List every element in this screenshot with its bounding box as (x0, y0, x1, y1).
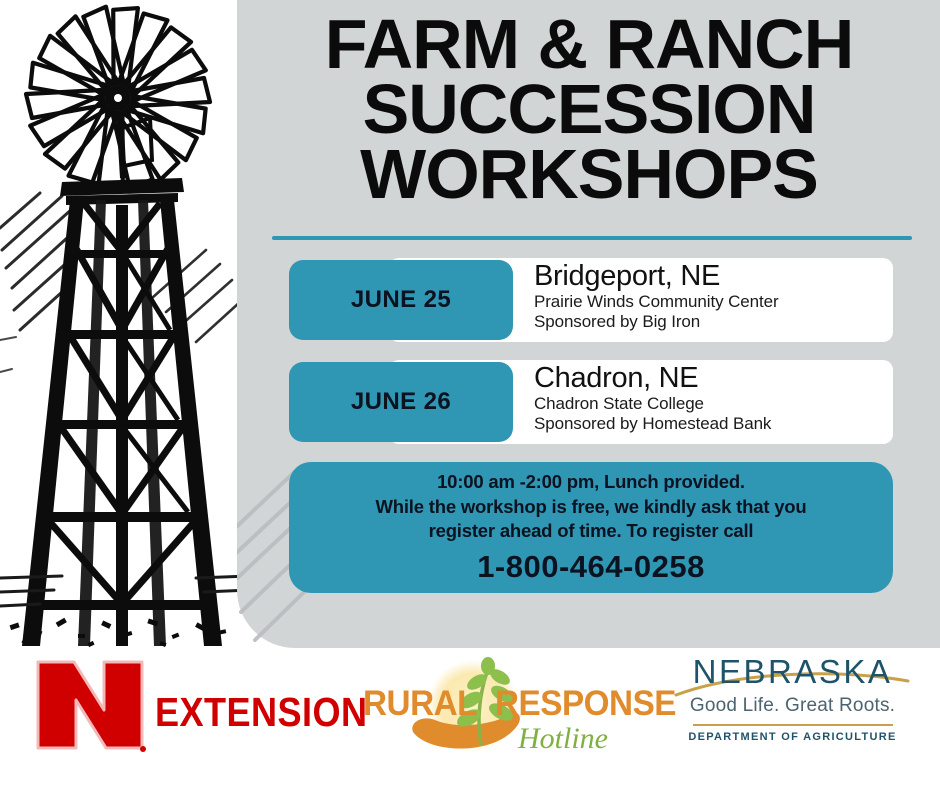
nda-divider (693, 724, 893, 726)
event-date-badge: JUNE 26 (289, 362, 513, 442)
registration-line-1: 10:00 am -2:00 pm, Lunch provided. (437, 470, 745, 495)
event-venue: Prairie Winds Community Center (534, 292, 884, 312)
event-sponsor: Sponsored by Homestead Bank (534, 414, 884, 434)
extension-wordmark: EXTENSION (155, 689, 367, 736)
nebraska-department-of-agriculture-logo: NEBRASKA Good Life. Great Roots. DEPARTM… (670, 653, 915, 763)
event-row: JUNE 25 Bridgeport, NE Prairie Winds Com… (289, 258, 893, 342)
rural-response-hotline-logo: RURAL RESPONSE Hotline (355, 656, 645, 766)
event-details: Bridgeport, NE Prairie Winds Community C… (534, 261, 884, 332)
page-title: FARM & RANCH SUCCESSION WORKSHOPS (245, 12, 933, 207)
event-date-badge: JUNE 25 (289, 260, 513, 340)
event-row: JUNE 26 Chadron, NE Chadron State Colleg… (289, 360, 893, 444)
registration-line-2: While the workshop is free, we kindly as… (375, 495, 806, 520)
husker-n-icon (30, 656, 150, 756)
registration-phone-number[interactable]: 1-800-464-0258 (477, 549, 705, 585)
event-date-label: JUNE 25 (351, 286, 451, 314)
nebraska-extension-logo: EXTENSION (30, 656, 330, 761)
event-details: Chadron, NE Chadron State College Sponso… (534, 363, 884, 434)
registration-info-box: 10:00 am -2:00 pm, Lunch provided. While… (289, 462, 893, 593)
headline-line-3: WORKSHOPS (245, 142, 933, 207)
footer-logo-bar: EXTENSION (0, 648, 940, 788)
headline-line-1: FARM & RANCH (245, 12, 933, 77)
event-sponsor: Sponsored by Big Iron (534, 312, 884, 332)
title-divider (272, 236, 912, 240)
rural-wordmark: RURAL (363, 684, 477, 724)
event-city: Chadron, NE (534, 363, 884, 394)
hotline-wordmark: Hotline (518, 722, 608, 756)
nebraska-wordmark: NEBRASKA (670, 653, 915, 691)
headline-line-2: SUCCESSION (245, 77, 933, 142)
event-venue: Chadron State College (534, 394, 884, 414)
poster-canvas: FARM & RANCH SUCCESSION WORKSHOPS JUNE 2… (0, 0, 940, 788)
event-date-label: JUNE 26 (351, 388, 451, 416)
event-city: Bridgeport, NE (534, 261, 884, 292)
windmill-svg (0, 0, 250, 648)
windmill-illustration (0, 0, 250, 648)
response-wordmark: RESPONSE (495, 684, 676, 724)
department-label: DEPARTMENT OF AGRICULTURE (670, 731, 915, 743)
registration-line-3: register ahead of time. To register call (429, 519, 754, 544)
